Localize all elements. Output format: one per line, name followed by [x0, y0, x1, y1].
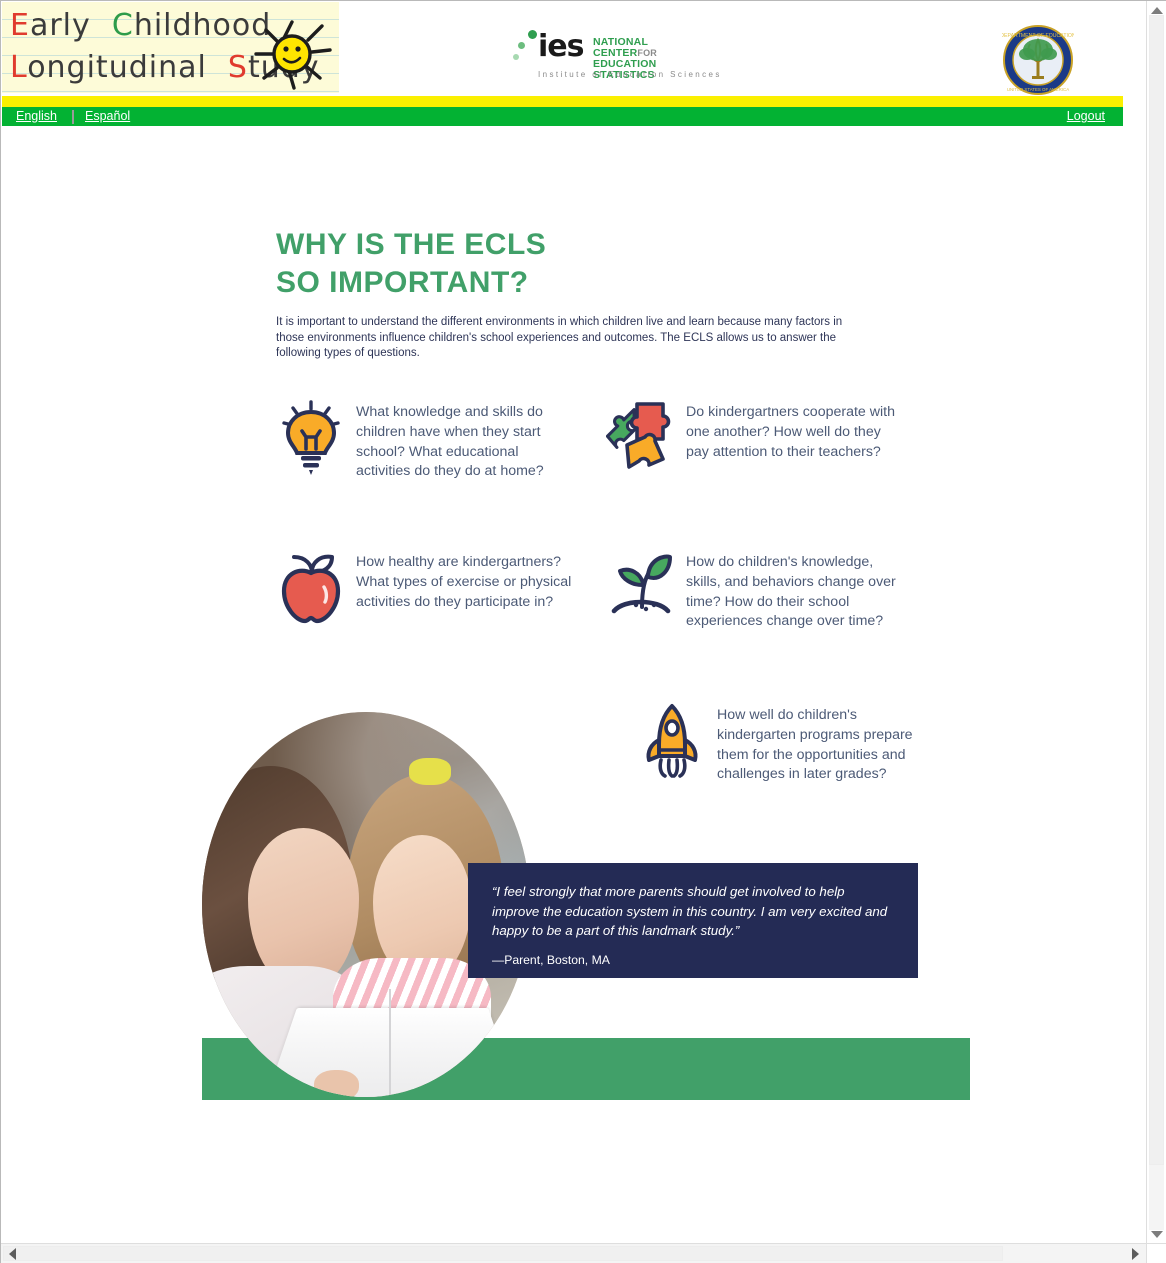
horizontal-scrollbar-thumb[interactable]	[3, 1246, 1003, 1261]
page-viewport: Early Childhood Longitudinal Study	[2, 2, 1146, 1243]
question-text: What knowledge and skills do children ha…	[356, 403, 556, 482]
sprout-icon	[606, 549, 676, 629]
quote-text: “I feel strongly that more parents shoul…	[492, 882, 894, 941]
nav-link-spanish[interactable]: Español	[85, 109, 130, 123]
puzzle-pieces-icon	[606, 399, 676, 479]
ies-dot-icon	[518, 42, 525, 49]
scroll-down-arrow-icon[interactable]	[1151, 1231, 1163, 1238]
vertical-scrollbar[interactable]	[1146, 1, 1166, 1244]
rocket-icon	[637, 702, 707, 782]
scroll-up-arrow-icon[interactable]	[1151, 7, 1163, 14]
scrollbar-corner	[1146, 1243, 1166, 1263]
ies-wordmark: ies	[538, 32, 584, 62]
scroll-left-arrow-icon[interactable]	[9, 1248, 16, 1260]
ecls-logo[interactable]: Early Childhood Longitudinal Study	[2, 2, 339, 93]
page-title-line1: WHY IS THE ECLS	[276, 226, 796, 264]
ies-dot-icon	[513, 54, 519, 60]
photo-child-hand	[314, 1070, 360, 1097]
browser-window: Early Childhood Longitudinal Study	[0, 0, 1166, 1263]
question-text: Do kindergartners cooperate with one ano…	[686, 403, 896, 462]
page-title-line2: SO IMPORTANT?	[276, 264, 796, 302]
sun-icon	[242, 16, 338, 92]
nav-link-english[interactable]: English	[16, 109, 57, 123]
site-header: Early Childhood Longitudinal Study	[2, 2, 1146, 97]
page-title: WHY IS THE ECLS SO IMPORTANT?	[276, 226, 796, 302]
nces-line1-for: FOR	[637, 48, 657, 58]
photo-book-spine	[389, 989, 391, 1097]
department-of-education-seal-icon: DEPARTMENT OF EDUCATION UNITED STATES OF…	[1002, 24, 1074, 96]
language-nav-bar: English Español Logout	[2, 107, 1123, 126]
nav-divider	[72, 110, 74, 124]
photo-child-hairbow	[409, 758, 452, 785]
yellow-accent-bar	[2, 96, 1123, 107]
photo-open-book	[258, 1008, 526, 1097]
testimonial-quote-box: “I feel strongly that more parents shoul…	[468, 863, 918, 978]
question-text: How well do children's kindergarten prog…	[717, 706, 927, 785]
quote-attribution: —Parent, Boston, MA	[492, 953, 894, 967]
question-text: How healthy are kindergartners? What typ…	[356, 553, 576, 612]
ecls-logo-line1: Early Childhood	[10, 8, 271, 43]
horizontal-scrollbar[interactable]	[1, 1243, 1147, 1263]
scroll-right-arrow-icon[interactable]	[1132, 1248, 1139, 1260]
ies-logo[interactable]: ies NATIONAL CENTERFOR EDUCATION STATIST…	[510, 28, 700, 86]
ies-dot-icon	[528, 30, 537, 39]
ies-tagline: Institute of Education Sciences	[538, 70, 722, 79]
lightbulb-icon	[276, 399, 346, 479]
svg-text:UNITED STATES OF AMERICA: UNITED STATES OF AMERICA	[1007, 87, 1069, 92]
intro-paragraph: It is important to understand the differ…	[276, 315, 854, 362]
svg-text:DEPARTMENT OF EDUCATION: DEPARTMENT OF EDUCATION	[1002, 33, 1074, 39]
vertical-scrollbar-thumb[interactable]	[1149, 15, 1164, 1165]
apple-icon	[276, 549, 346, 629]
nav-link-logout[interactable]: Logout	[1067, 109, 1105, 123]
question-text: How do children's knowledge, skills, and…	[686, 553, 906, 632]
